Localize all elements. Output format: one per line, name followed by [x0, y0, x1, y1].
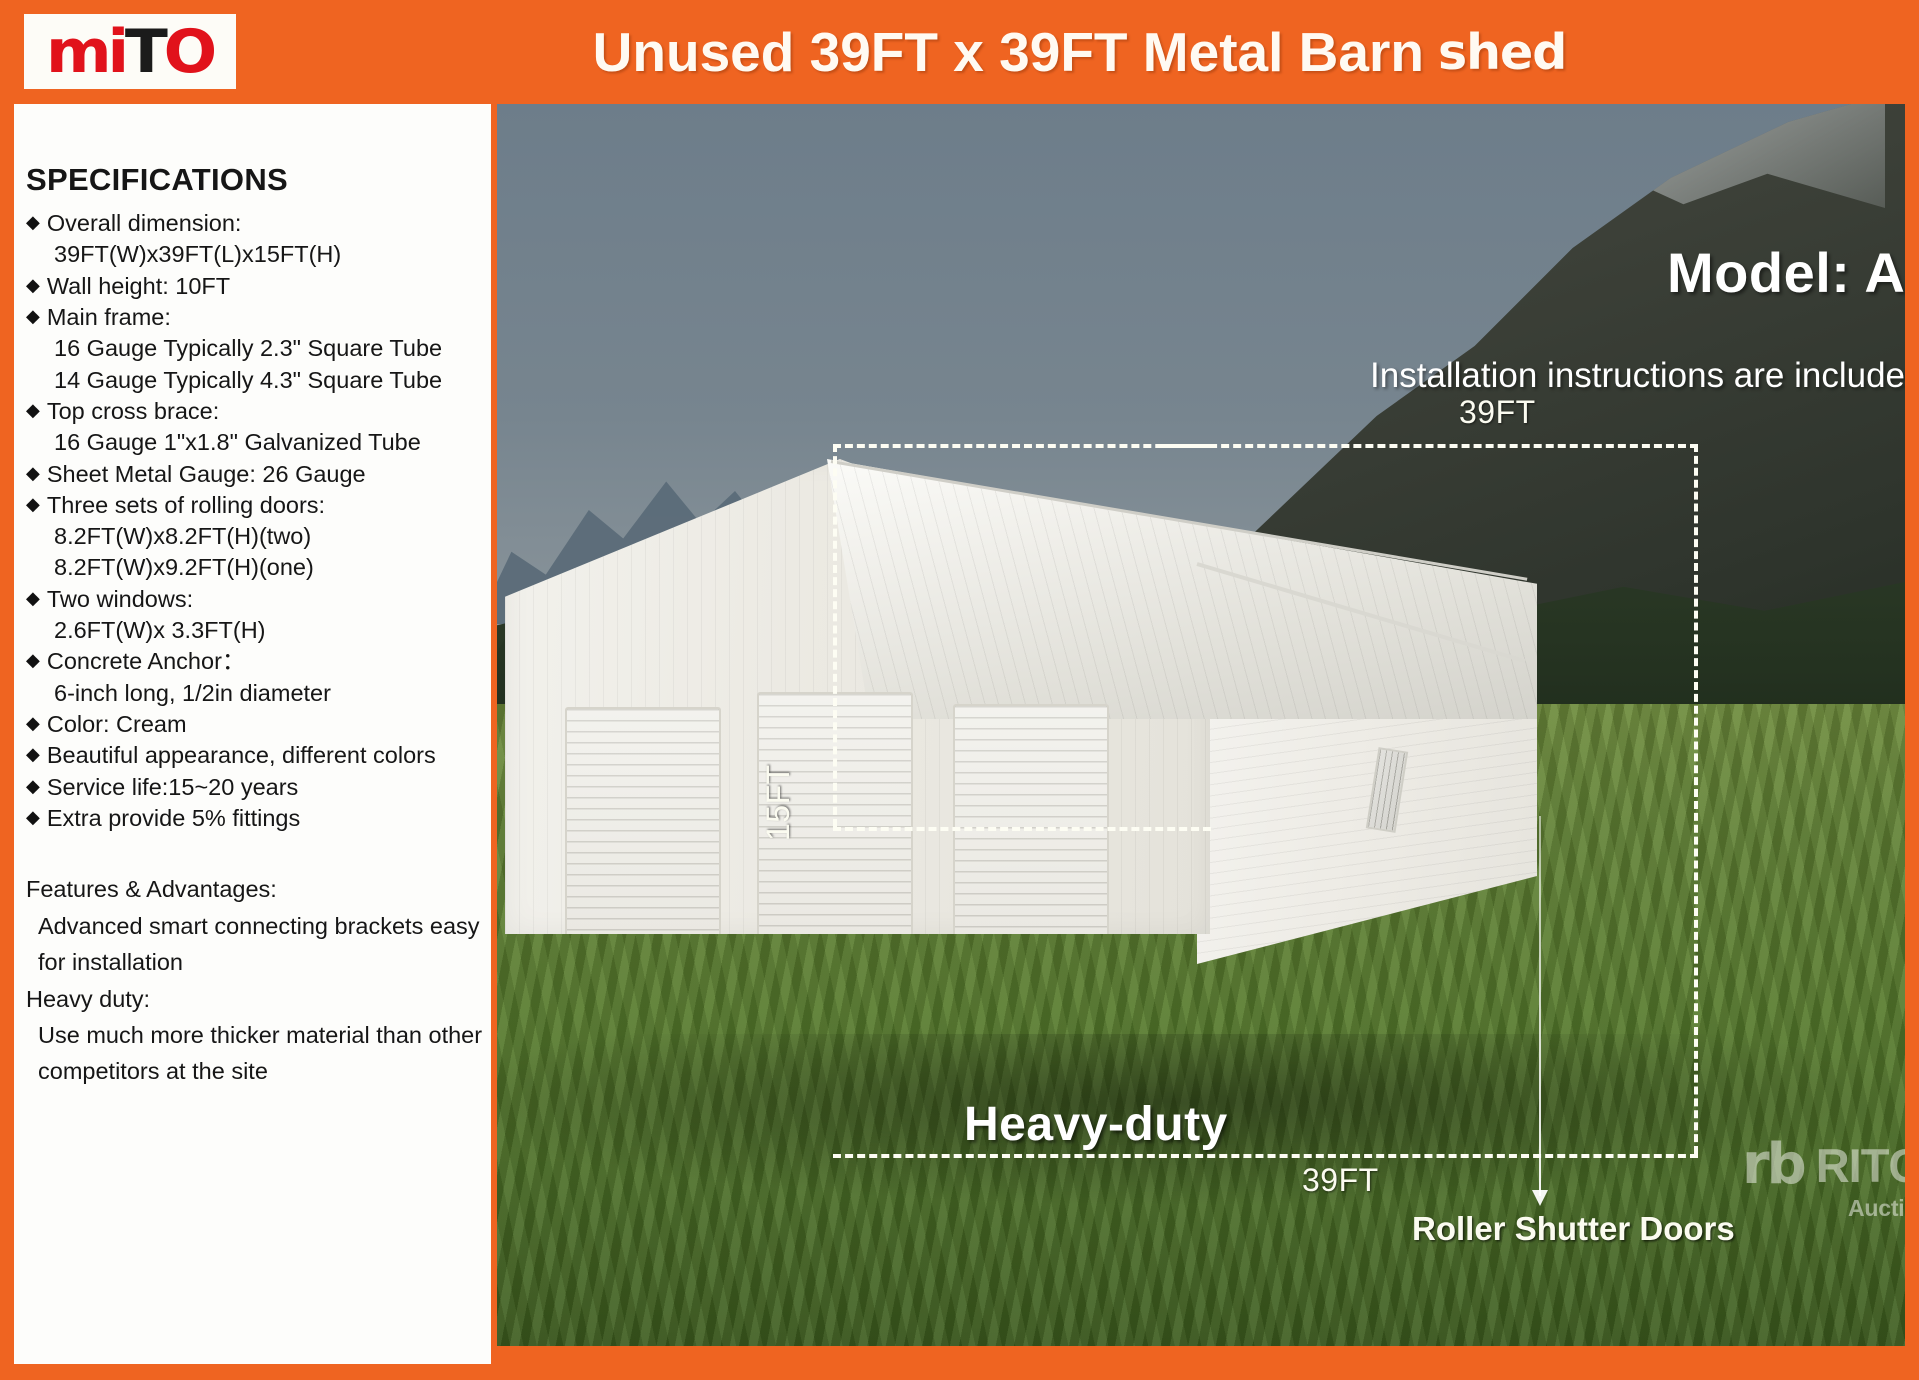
features-line: Advanced smart connecting brackets easy	[26, 908, 481, 944]
barn-roof-ribbing	[827, 459, 1537, 719]
dimension-line-top-depth	[1161, 444, 1698, 448]
heavy-duty-line: competitors at the site	[26, 1053, 481, 1089]
spec-item-label: Extra provide 5% fittings	[47, 803, 300, 833]
logo-part-mi: mi	[46, 17, 125, 87]
page-title: Unused 39FT x 39FT Metal Barn shed	[240, 0, 1919, 104]
spec-item-label: Beautiful appearance, different colors	[47, 740, 436, 770]
diamond-bullet-icon: ◆	[26, 772, 40, 801]
features-advantages-block: Features & Advantages: Advanced smart co…	[26, 871, 481, 1090]
diamond-bullet-icon: ◆	[26, 396, 40, 425]
brand-logo-wordmark: miTO	[46, 22, 213, 82]
ritchie-bros-wordmark-row: rb RITCHIE	[1742, 1137, 1905, 1193]
spec-item: ◆Two windows:	[26, 584, 481, 614]
spec-item-detail: 16 Gauge 1"x1.8" Galvanized Tube	[26, 427, 481, 457]
dimension-label-width: 39FT	[1302, 1162, 1379, 1199]
callout-arrow-icon	[1532, 1190, 1548, 1206]
spec-item: ◆Concrete Anchor：	[26, 646, 481, 676]
product-spec-poster: miTO Unused 39FT x 39FT Metal Barn shed …	[0, 0, 1919, 1380]
spec-item: ◆Top cross brace:	[26, 396, 481, 426]
spec-item: ◆Color: Cream	[26, 709, 481, 739]
specifications-list: ◆Overall dimension:39FT(W)x39FT(L)x15FT(…	[26, 208, 481, 833]
spec-item: ◆Main frame:	[26, 302, 481, 332]
diamond-bullet-icon: ◆	[26, 646, 40, 675]
diamond-bullet-icon: ◆	[26, 302, 40, 331]
features-heading: Features & Advantages:	[26, 871, 481, 907]
diamond-bullet-icon: ◆	[26, 803, 40, 832]
spec-item-detail: 8.2FT(W)x8.2FT(H)(two)	[26, 521, 481, 551]
spec-item-detail: 39FT(W)x39FT(L)x15FT(H)	[26, 239, 481, 269]
spec-item-label: Two windows:	[47, 584, 193, 614]
spec-item-label: Sheet Metal Gauge: 26 Gauge	[47, 459, 366, 489]
heavy-duty-badge: Heavy-duty	[964, 1097, 1228, 1152]
heavy-duty-heading: Heavy duty:	[26, 981, 481, 1017]
spec-item-label: Main frame:	[47, 302, 171, 332]
spec-item: ◆Three sets of rolling doors:	[26, 490, 481, 520]
spec-item-label: Service life:15~20 years	[47, 772, 298, 802]
ritchie-bros-watermark: rb RITCHIE Auctioneers	[1742, 1137, 1905, 1222]
ritchie-bros-name: RITCHIE	[1816, 1142, 1905, 1189]
logo-part-t: T	[125, 17, 164, 87]
callout-label-roller-doors: Roller Shutter Doors	[1412, 1210, 1735, 1248]
dimension-line-height-left	[833, 444, 837, 827]
features-line: for installation	[26, 944, 481, 980]
dimension-line-bottom	[833, 1154, 1698, 1158]
poster-header: miTO Unused 39FT x 39FT Metal Barn shed	[0, 0, 1919, 104]
installation-note: Installation instructions are included i…	[1370, 356, 1905, 396]
roller-shutter-door	[565, 707, 721, 934]
page-title-suffix: shed	[1438, 24, 1566, 81]
spec-item: ◆Extra provide 5% fittings	[26, 803, 481, 833]
spec-item-label: Wall height: 10FT	[47, 271, 230, 301]
spec-item: ◆Overall dimension:	[26, 208, 481, 238]
diamond-bullet-icon: ◆	[26, 490, 40, 519]
diamond-bullet-icon: ◆	[26, 584, 40, 613]
spec-item: ◆Sheet Metal Gauge: 26 Gauge	[26, 459, 481, 489]
spec-item-label: Color: Cream	[47, 709, 187, 739]
specifications-panel: SPECIFICATIONS ◆Overall dimension:39FT(W…	[14, 104, 491, 1364]
spec-item-label: Concrete Anchor：	[47, 646, 246, 676]
page-title-main: Unused 39FT x 39FT Metal Barn	[593, 20, 1424, 84]
spec-item: ◆Service life:15~20 years	[26, 772, 481, 802]
dimension-line-right	[1694, 444, 1698, 1154]
dimension-line-lower-left	[833, 827, 1211, 831]
diamond-bullet-icon: ◆	[26, 459, 40, 488]
spec-item: ◆Beautiful appearance, different colors	[26, 740, 481, 770]
spec-item-label: Top cross brace:	[47, 396, 219, 426]
spec-item-detail: 14 Gauge Typically 4.3" Square Tube	[26, 365, 481, 395]
spec-item: ◆Wall height: 10FT	[26, 271, 481, 301]
spec-item-detail: 8.2FT(W)x9.2FT(H)(one)	[26, 552, 481, 582]
specifications-heading: SPECIFICATIONS	[26, 162, 481, 198]
diamond-bullet-icon: ◆	[26, 271, 40, 300]
spec-item-detail: 2.6FT(W)x 3.3FT(H)	[26, 615, 481, 645]
spec-item-label: Three sets of rolling doors:	[47, 490, 325, 520]
model-number-label: Model: A0039	[1667, 240, 1905, 305]
spec-item-label: Overall dimension:	[47, 208, 242, 238]
callout-leader-line	[1539, 816, 1541, 1196]
logo-part-o: O	[164, 17, 213, 87]
spec-item-detail: 16 Gauge Typically 2.3" Square Tube	[26, 333, 481, 363]
brand-logo: miTO	[24, 14, 236, 89]
ritchie-bros-subtitle: Auctioneers	[1742, 1195, 1905, 1222]
product-photo: 39FT 15FT 39FT Roller Shutter Doors Mode…	[497, 104, 1905, 1346]
dimension-label-height: 15FT	[760, 764, 797, 841]
diamond-bullet-icon: ◆	[26, 709, 40, 738]
dimension-label-depth: 39FT	[1459, 394, 1536, 431]
ritchie-bros-mark: rb	[1742, 1137, 1804, 1193]
heavy-duty-line: Use much more thicker material than othe…	[26, 1017, 481, 1053]
spec-item-detail: 6-inch long, 1/2in diameter	[26, 678, 481, 708]
diamond-bullet-icon: ◆	[26, 740, 40, 769]
dimension-line-top-left	[833, 444, 1211, 448]
diamond-bullet-icon: ◆	[26, 208, 40, 237]
roller-shutter-door	[953, 704, 1109, 934]
